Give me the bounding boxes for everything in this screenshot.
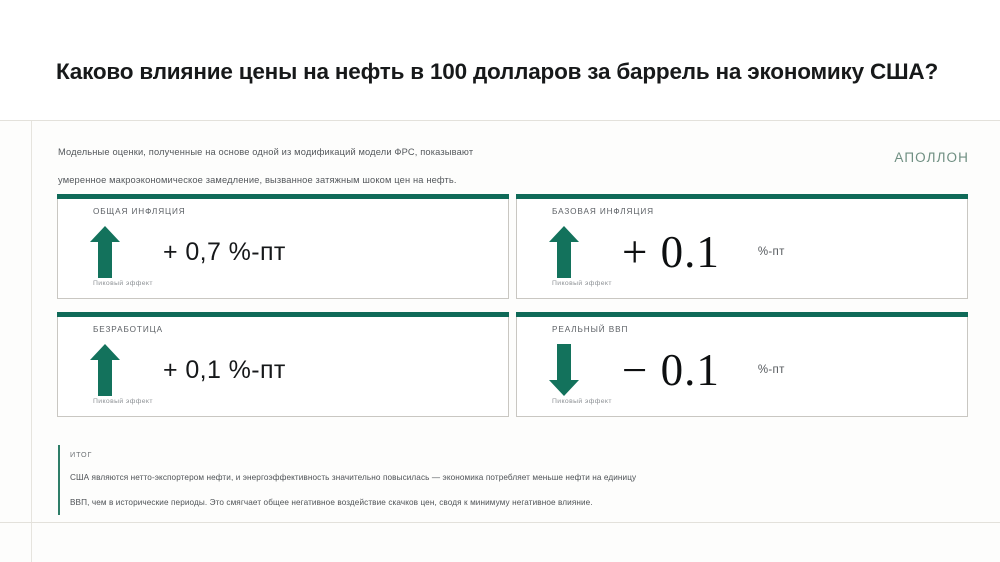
arrow-up-icon: [90, 344, 120, 396]
card-accent-bar: [516, 312, 968, 317]
page-title: Каково влияние цены на нефть в 100 долла…: [56, 59, 938, 85]
guide-line-header-divider: [0, 120, 1000, 121]
card-title: ОБЩАЯ ИНФЛЯЦИЯ: [93, 207, 186, 216]
card-footnote: Пиковый эффект: [552, 398, 612, 405]
card-value-group: + 0,7 %-пт: [163, 225, 286, 279]
card-value-group: + 0,1 %-пт: [163, 343, 286, 397]
slide: Каково влияние цены на нефть в 100 долла…: [0, 0, 1000, 562]
card-footnote: Пиковый эффект: [552, 280, 612, 287]
metric-card-core-inflation[interactable]: БАЗОВАЯ ИНФЛЯЦИЯ + 0.1 %-пт Пиковый эффе…: [516, 194, 968, 299]
card-value-group: − 0.1 %-пт: [622, 343, 785, 397]
card-value: + 0,1 %-пт: [163, 356, 286, 385]
card-value-unit: %-пт: [758, 246, 785, 258]
intro-line-1: Модельные оценки, полученные на основе о…: [58, 138, 578, 166]
card-value-unit: %-пт: [758, 364, 785, 376]
card-footnote: Пиковый эффект: [93, 280, 153, 287]
metric-card-grid: ОБЩАЯ ИНФЛЯЦИЯ + 0,7 %-пт Пиковый эффект…: [57, 194, 968, 417]
card-value: + 0,7 %-пт: [163, 238, 286, 267]
arrow-up-icon: [549, 226, 579, 278]
card-title: БАЗОВАЯ ИНФЛЯЦИЯ: [552, 207, 654, 216]
arrow-down-icon: [549, 344, 579, 396]
card-title: РЕАЛЬНЫЙ ВВП: [552, 325, 628, 334]
card-value: − 0.1: [622, 348, 720, 393]
arrow-up-icon: [90, 226, 120, 278]
card-accent-bar: [57, 312, 509, 317]
card-accent-bar: [57, 194, 509, 199]
summary-kicker: ИТОГ: [70, 445, 758, 465]
card-value-group: + 0.1 %-пт: [622, 225, 785, 279]
metric-card-headline-inflation[interactable]: ОБЩАЯ ИНФЛЯЦИЯ + 0,7 %-пт Пиковый эффект: [57, 194, 509, 299]
brand-logo-text: АПОЛЛОН: [894, 150, 969, 165]
intro-line-2: умеренное макроэкономическое замедление,…: [58, 166, 578, 194]
summary-line-2: ВВП, чем в исторические периоды. Это смя…: [70, 490, 758, 515]
summary-block: ИТОГ США являются нетто-экспортером нефт…: [58, 445, 758, 515]
guide-line-footer-divider: [0, 522, 1000, 523]
card-footnote: Пиковый эффект: [93, 398, 153, 405]
slide-header: Каково влияние цены на нефть в 100 долла…: [0, 0, 1000, 120]
metric-card-real-gdp[interactable]: РЕАЛЬНЫЙ ВВП − 0.1 %-пт Пиковый эффект: [516, 312, 968, 417]
card-title: БЕЗРАБОТИЦА: [93, 325, 163, 334]
card-value: + 0.1: [622, 230, 720, 275]
summary-line-1: США являются нетто-экспортером нефти, и …: [70, 465, 758, 490]
metric-card-unemployment[interactable]: БЕЗРАБОТИЦА + 0,1 %-пт Пиковый эффект: [57, 312, 509, 417]
intro-text: Модельные оценки, полученные на основе о…: [58, 138, 578, 194]
card-accent-bar: [516, 194, 968, 199]
